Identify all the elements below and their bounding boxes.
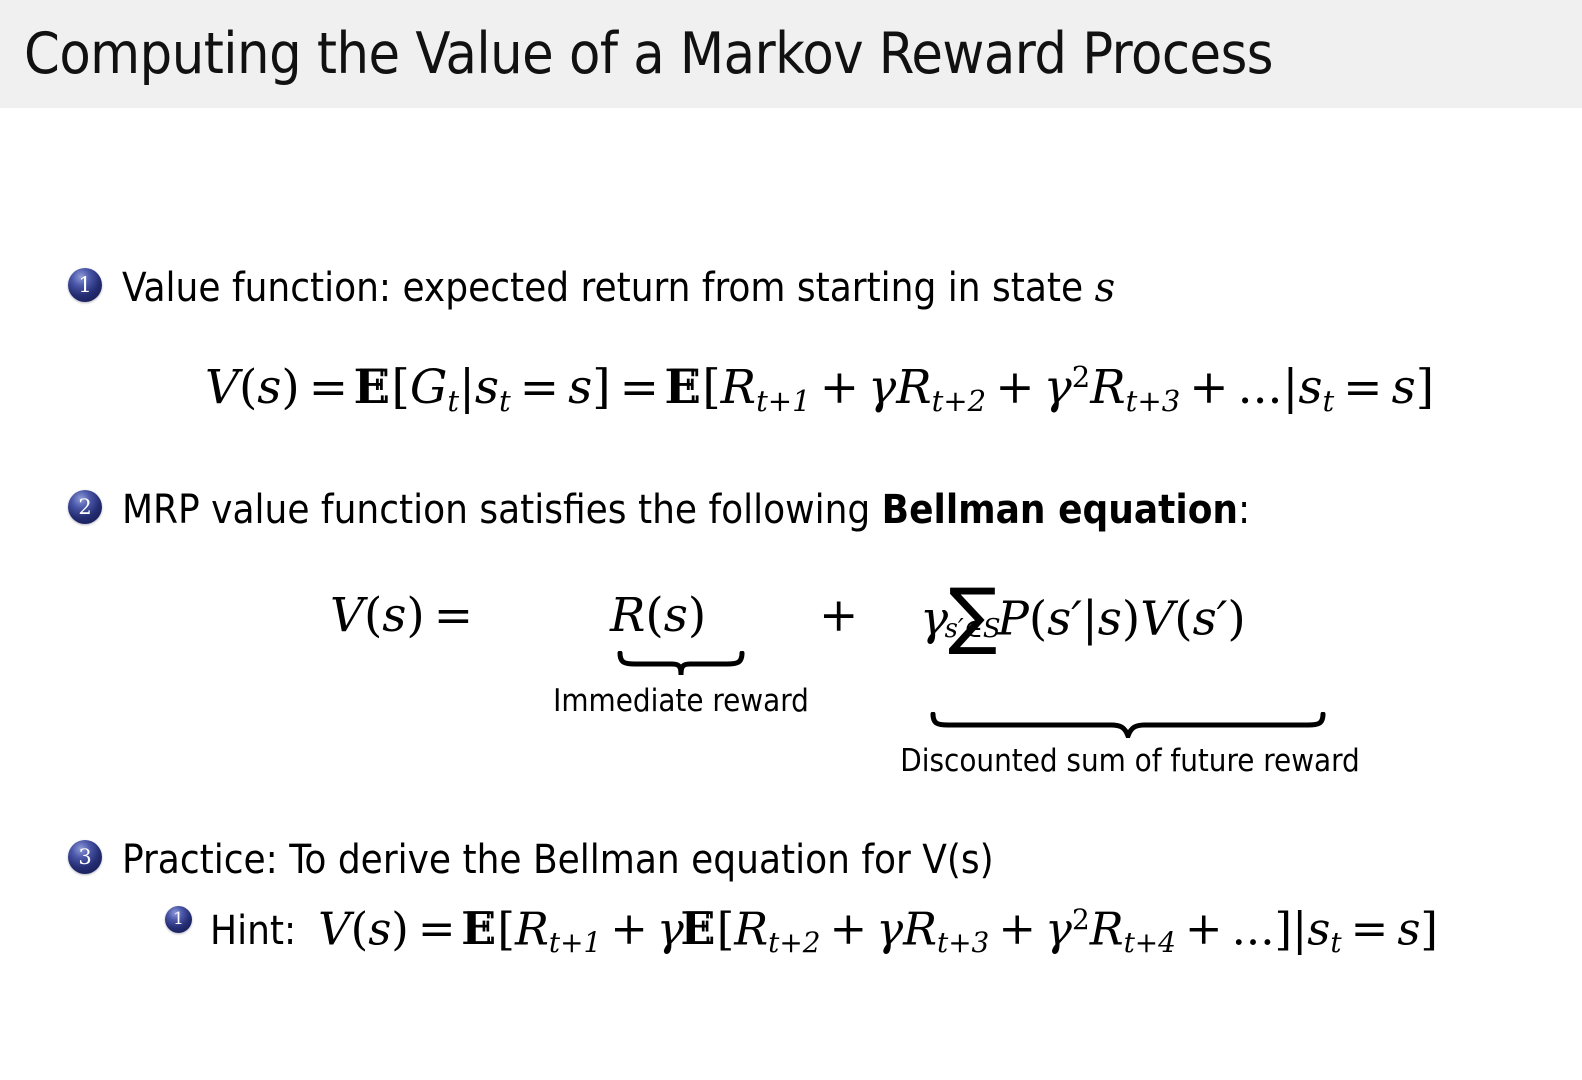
hint-expectation-2: E <box>684 906 717 951</box>
list-item-1: 1 Value function: expected return from s… <box>68 268 1115 308</box>
hint-ellipsis: ... <box>1232 902 1275 955</box>
eq1-G: G <box>410 360 448 415</box>
bellman-P-mid: | <box>1082 591 1098 646</box>
bullet-number: 2 <box>68 490 102 524</box>
hint-plus-2: + <box>820 902 876 955</box>
bellman-P-sprime: s′ <box>1047 591 1082 646</box>
eq1-s-subscript-2: t <box>1322 384 1334 418</box>
summation-limit: s′∈S <box>945 614 1001 644</box>
bellman-P: P <box>997 591 1029 646</box>
hint-gamma-2: γ <box>876 902 903 955</box>
hint-equals: = <box>409 902 465 955</box>
hint-expectation-1: E <box>465 906 498 951</box>
bellman-immediate-reward-term: R(s) <box>610 588 706 643</box>
eq1-plus-2: + <box>986 360 1043 415</box>
list-item-2: 2 MRP value function satisfies the follo… <box>68 490 1250 530</box>
bellman-R-lparen: ( <box>645 588 663 643</box>
eq1-R-3: R <box>1090 360 1125 415</box>
hint-lbracket-2: [ <box>717 902 735 955</box>
eq1-R3-subscript: t+3 <box>1126 384 1181 418</box>
hint-rbracket-2: ] <box>1275 902 1293 955</box>
bullet-badge-2: 2 <box>68 490 102 524</box>
bellman-P-lparen: ( <box>1029 591 1047 646</box>
bullet-badge-1: 1 <box>68 268 102 302</box>
eq1-equals-4: = <box>1334 360 1391 415</box>
underbrace-label-immediate-reward: Immediate reward <box>506 683 856 719</box>
list-item-2-colon: : <box>1238 487 1250 533</box>
bellman-equation-block: V(s)= R(s) + γ∑s′∈SP(s′|s)V(s′) Immediat… <box>330 588 1470 808</box>
bullet-badge-3: 3 <box>68 840 102 874</box>
bellman-V2-sprime: s′ <box>1193 591 1228 646</box>
list-item-1-text: Value function: expected return from sta… <box>122 268 1115 308</box>
bellman-equation-emphasis: Bellman equation <box>882 487 1238 533</box>
eq1-R1-subscript: t+1 <box>756 384 811 418</box>
bellman-lparen: ( <box>364 588 382 643</box>
eq1-s-t-2: s <box>1298 360 1322 415</box>
hint-mid: | <box>1292 902 1307 955</box>
bellman-plus: + <box>810 588 867 643</box>
eq1-expectation-2: E <box>668 360 702 415</box>
list-item-3-text: Practice: To derive the Bellman equation… <box>122 840 994 880</box>
bellman-rparen: ) <box>406 588 424 643</box>
eq1-R-2: R <box>896 360 931 415</box>
list-item-3-1-hint: 1 Hint: V(s)=E[Rt+1+γE[Rt+2+γRt+3+γ2Rt+4… <box>165 906 1438 957</box>
hint-lparen: ( <box>351 902 369 955</box>
list-item-1-label: Value function: expected return from sta… <box>122 265 1095 311</box>
eq1-R2-subscript: t+2 <box>932 384 987 418</box>
hint-rbracket-1: ] <box>1420 902 1438 955</box>
bellman-R-s: s <box>664 588 688 643</box>
bellman-equals: = <box>425 588 482 643</box>
bellman-s: s <box>382 588 406 643</box>
list-item-3: 3 Practice: To derive the Bellman equati… <box>68 840 994 880</box>
eq1-lparen: ( <box>239 360 257 415</box>
bellman-R-rparen: ) <box>688 588 706 643</box>
eq1-s-value-2: s <box>1392 360 1416 415</box>
bullet-number: 1 <box>68 268 102 302</box>
bullet-number: 1 <box>165 906 192 933</box>
eq1-rbracket-1: ] <box>592 360 610 415</box>
eq1-rbracket-2: ] <box>1416 360 1434 415</box>
eq1-plus-1: + <box>811 360 868 415</box>
equation-value-function: V(s)=E[Gt|st=s]=E[Rt+1+γRt+2+γ2Rt+3+...|… <box>205 360 1434 418</box>
hint-label: Hint: <box>210 911 296 951</box>
eq1-ellipsis: ... <box>1238 360 1283 415</box>
eq1-lbracket-2: [ <box>702 360 720 415</box>
bellman-P-rparen: ) <box>1122 591 1140 646</box>
underbrace-label-future-reward: Discounted sum of future reward <box>850 743 1410 779</box>
eq1-G-subscript: t <box>447 384 459 418</box>
hint-R3-subscript: t+3 <box>937 926 989 959</box>
hint-plus-1: + <box>601 902 657 955</box>
hint-V: V <box>318 902 351 955</box>
bellman-R: R <box>610 588 645 643</box>
hint-R-1: R <box>515 902 549 955</box>
hint-R4-subscript: t+4 <box>1124 926 1176 959</box>
bellman-future-term: γ∑s′∈SP(s′|s)V(s′) <box>920 588 1246 646</box>
hint-R-3: R <box>903 902 937 955</box>
eq1-lbracket-1: [ <box>391 360 409 415</box>
eq1-mid-2: | <box>1282 360 1298 415</box>
bellman-V2-rparen: ) <box>1227 591 1245 646</box>
eq1-equals-2: = <box>511 360 568 415</box>
page-title: Computing the Value of a Markov Reward P… <box>0 21 1273 87</box>
hint-lbracket-1: [ <box>497 902 515 955</box>
bullet-number: 3 <box>68 840 102 874</box>
hint-R-4: R <box>1090 902 1124 955</box>
eq1-s-value-1: s <box>568 360 592 415</box>
list-item-2-label: MRP value function satisfies the followi… <box>122 487 882 533</box>
hint-rparen: ) <box>391 902 409 955</box>
hint-gamma3-exponent: 2 <box>1072 903 1090 936</box>
hint-s-value: s <box>1397 902 1420 955</box>
bellman-plus-sign: + <box>810 588 867 643</box>
bellman-V2: V <box>1140 591 1174 646</box>
eq1-equals-1: = <box>300 360 357 415</box>
eq1-mid-1: | <box>459 360 475 415</box>
eq1-plus-3: + <box>1180 360 1237 415</box>
eq1-V: V <box>205 360 239 415</box>
bellman-V: V <box>330 588 364 643</box>
hint-R-2: R <box>734 902 768 955</box>
hint-s-subscript: t <box>1330 926 1341 959</box>
eq1-s-t-1: s <box>475 360 499 415</box>
hint-R1-subscript: t+1 <box>549 926 601 959</box>
eq1-s: s <box>257 360 281 415</box>
eq1-R-1: R <box>721 360 756 415</box>
bullet-badge-3-1: 1 <box>165 906 192 933</box>
bellman-lhs: V(s)= <box>330 588 482 643</box>
slide-title-bar: Computing the Value of a Markov Reward P… <box>0 0 1582 108</box>
slide-content: 1 Value function: expected return from s… <box>0 108 1582 1080</box>
hint-plus-3: + <box>989 902 1045 955</box>
eq1-s-subscript-1: t <box>499 384 511 418</box>
hint-equals-2: = <box>1342 902 1398 955</box>
state-symbol-s: s <box>1095 265 1116 311</box>
hint-plus-4: + <box>1176 902 1232 955</box>
hint-gamma-3: γ <box>1045 902 1072 955</box>
eq1-rparen: ) <box>281 360 299 415</box>
summation-symbol: ∑s′∈S <box>948 588 997 645</box>
hint-s: s <box>368 902 391 955</box>
underbrace-immediate-reward <box>617 651 745 677</box>
eq1-expectation-1: E <box>357 360 391 415</box>
hint-row: Hint: V(s)=E[Rt+1+γE[Rt+2+γRt+3+γ2Rt+4+.… <box>210 906 1438 957</box>
hint-s-t: s <box>1307 902 1330 955</box>
eq1-gamma2-exponent: 2 <box>1072 360 1091 394</box>
equation-hint: V(s)=E[Rt+1+γE[Rt+2+γRt+3+γ2Rt+4+...]|st… <box>318 906 1438 957</box>
eq1-equals-3: = <box>611 360 668 415</box>
bellman-V2-lparen: ( <box>1174 591 1192 646</box>
eq1-gamma-2: γ <box>1044 360 1072 415</box>
bellman-P-s: s <box>1098 591 1122 646</box>
hint-R2-subscript: t+2 <box>768 926 820 959</box>
underbrace-future-reward <box>930 712 1326 738</box>
eq1-gamma-1: γ <box>868 360 896 415</box>
list-item-2-text: MRP value function satisfies the followi… <box>122 490 1250 530</box>
